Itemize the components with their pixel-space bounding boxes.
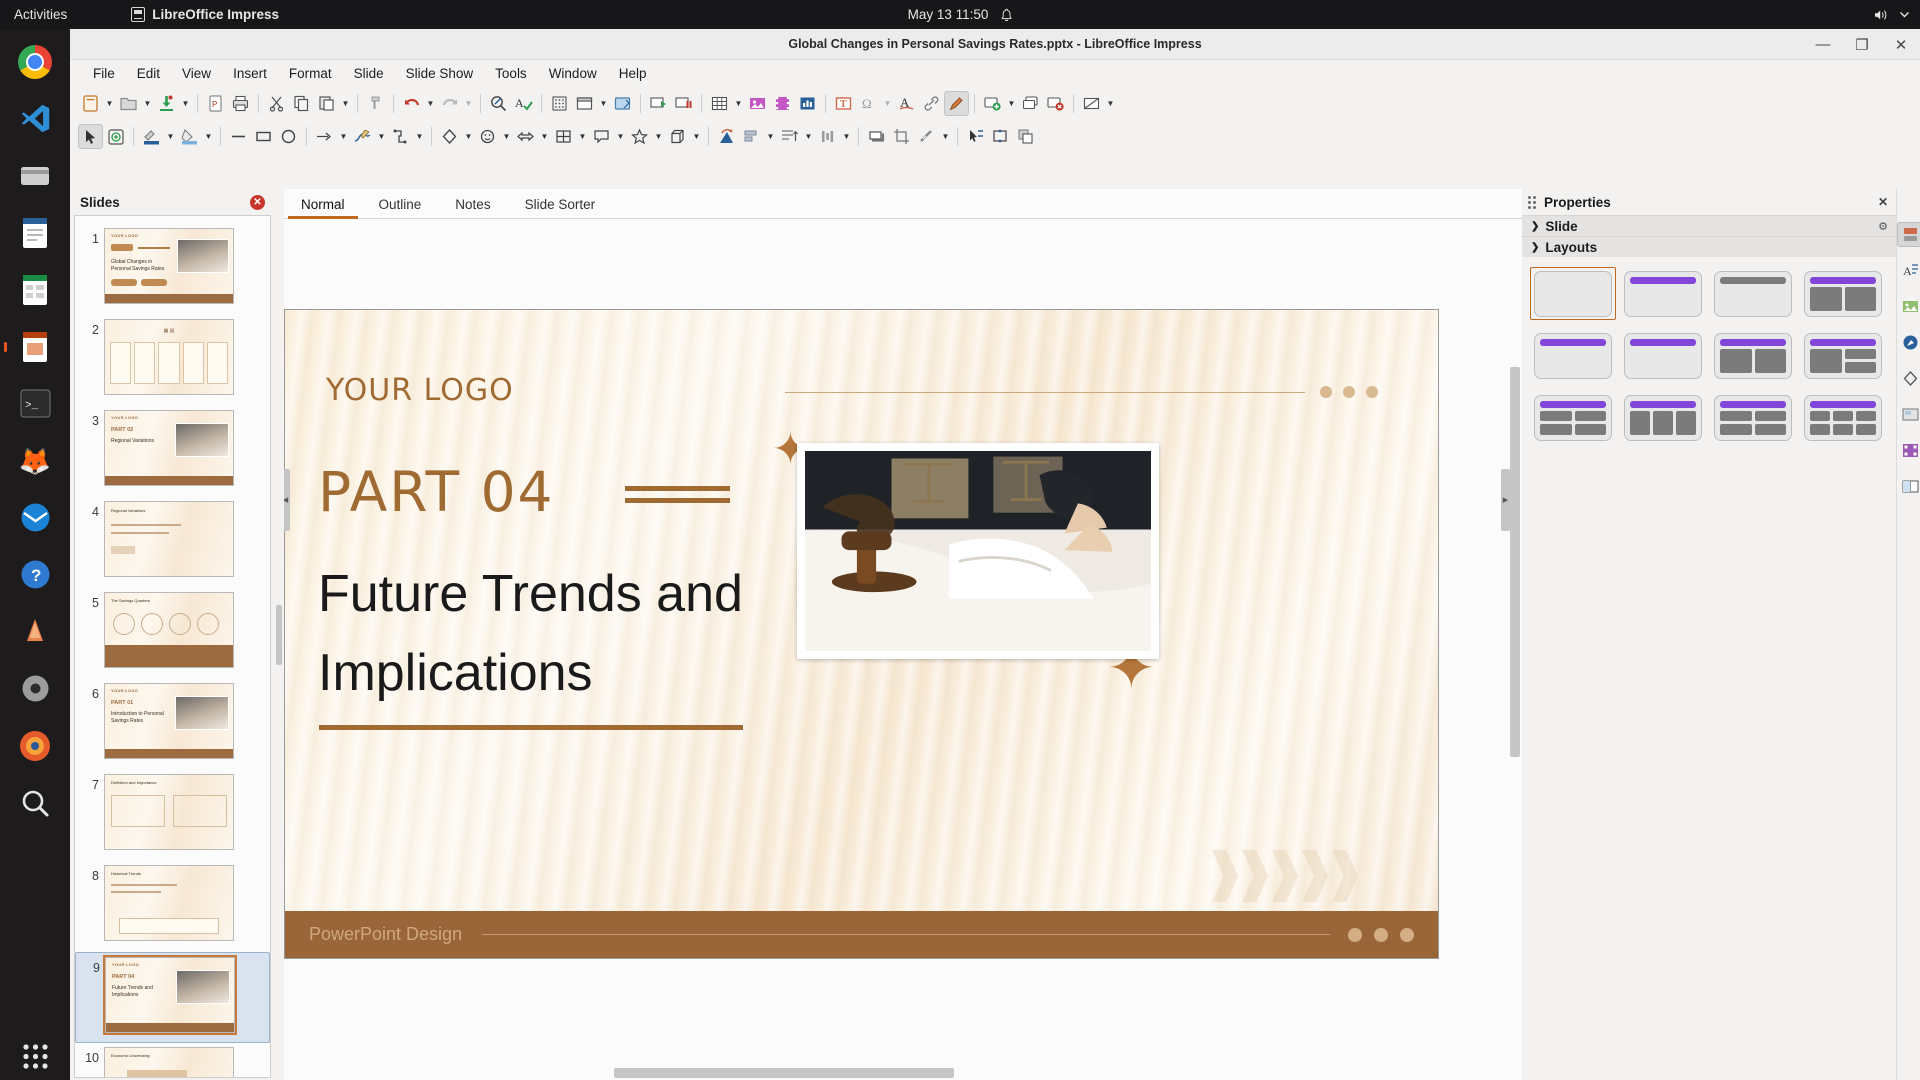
ubuntu-dock: >_ 🦊 ? [0,29,70,1080]
tab-normal[interactable]: Normal [284,192,362,218]
ellipse-button[interactable] [276,124,301,149]
slide-thumbnail-9[interactable]: 9 YOUR LOGO PART 04 Future Trends and Im… [75,952,270,1043]
slide-thumb-image: The Savings Quarters [104,592,234,668]
slide-thumbnail-4[interactable]: 4 Regional Variations [75,497,270,588]
slide-thumb-image: Historical Trends [104,865,234,941]
callout-shapes-dropdown[interactable]: ▼ [614,124,627,149]
layout-title-two-over-two[interactable] [1710,391,1796,444]
slide-thumbnail-6[interactable]: 6 YOUR LOGO PART 01 Introduction to Pers… [75,679,270,770]
points-button[interactable] [963,124,988,149]
active-app-indicator[interactable]: LibreOffice Impress [131,7,279,22]
show-applications-button[interactable] [12,1033,59,1080]
cut-button[interactable] [264,91,289,116]
edit-area: Normal Outline Notes Slide Sorter YOUR L… [284,189,1522,1080]
slide-thumb-image: YOUR LOGO PART 02 Regional Variations [104,410,234,486]
export-pdf-button[interactable]: P [203,91,228,116]
slide-footer-text: PowerPoint Design [309,924,462,945]
sidebar-tab-master-slides[interactable] [1897,402,1920,427]
dock-item-files[interactable] [12,152,59,199]
slide-heading-line-1: Future Trends and [318,565,743,623]
sidebar-grip-icon[interactable] [1528,196,1536,209]
thumb-title: Future Trends and Implications [112,985,167,999]
slide-number: 2 [75,319,99,337]
dock-item-google-chrome[interactable] [12,38,59,85]
arrange-button[interactable] [777,124,802,149]
footer-dots [1348,928,1414,942]
fill-color-button[interactable] [177,124,202,149]
zoom-tool-button[interactable] [103,124,128,149]
help-icon: ? [20,559,51,590]
3d-objects-button[interactable] [665,124,690,149]
layout-title-three-content[interactable] [1620,391,1706,444]
slide-footer: PowerPoint Design [285,911,1438,958]
paste-dropdown[interactable]: ▼ [339,91,352,116]
chevron-decoration [1212,850,1358,902]
insert-fontwork-button[interactable]: A [894,91,919,116]
new-slide-dropdown[interactable]: ▼ [1005,91,1018,116]
chevron-right-icon: ❯ [1531,221,1539,232]
thumb-title: Global Changes in Personal Savings Rates [111,259,173,273]
sidebar-section-layouts[interactable]: ❯ Layouts [1522,236,1896,257]
redo-button[interactable] [437,91,462,116]
sidebar-tab-shapes[interactable] [1897,366,1920,391]
slide-heading-line-2: Implications [318,644,593,702]
dock-item-help[interactable]: ? [12,551,59,598]
header-dots [1320,386,1378,398]
slide-thumbnail-3[interactable]: 3 YOUR LOGO PART 02 Regional Variations [75,406,270,497]
block-arrows-button[interactable] [513,124,538,149]
layout-title-content[interactable] [1620,267,1706,320]
part-rule-bottom [625,498,730,503]
open-file-button[interactable] [116,91,141,116]
3d-objects-dropdown[interactable]: ▼ [690,124,703,149]
sidebar-section-slide-label: Slide [1545,219,1577,234]
svg-text:A: A [1903,264,1912,278]
save-document-button[interactable] [154,91,179,116]
dock-item-visual-studio-code[interactable] [12,95,59,142]
slide-canvas[interactable]: YOUR LOGO PART 04 Future Trends and Impl… [284,219,1522,1080]
special-character-dropdown[interactable]: ▼ [881,91,894,116]
thumb-logo: YOUR LOGO [111,415,138,420]
slide-thumbnail-5[interactable]: 5 The Savings Quarters [75,588,270,679]
sidebar-tab-navigator[interactable] [1897,330,1920,355]
thumb-title: Introduction to Personal Savings Rates [111,711,166,725]
layout-gallery [1522,257,1896,444]
minimize-button[interactable]: — [1812,34,1834,56]
thumb-logo: YOUR LOGO [111,233,138,238]
system-indicators[interactable] [1873,8,1910,22]
layout-title-content-2[interactable] [1620,329,1706,382]
master-slide-button[interactable] [610,91,635,116]
basic-shapes-dropdown[interactable]: ▼ [462,124,475,149]
slide-number: 3 [75,410,99,428]
sidebar-tab-styles[interactable]: A [1897,258,1920,283]
grid-icon [22,1043,49,1070]
tab-notes[interactable]: Notes [438,192,507,218]
power-menu-icon [1899,9,1910,20]
files-icon [19,161,51,191]
show-draw-functions-button[interactable] [944,91,969,116]
dock-item-gimp[interactable]: 🦊 [12,437,59,484]
dock-item-text-editor[interactable] [12,209,59,256]
block-arrows-dropdown[interactable]: ▼ [538,124,551,149]
calc-icon [20,274,50,306]
insert-special-character-button[interactable]: Ω [856,91,881,116]
dock-item-impress[interactable] [12,323,59,370]
activities-button[interactable]: Activities [0,7,79,22]
align-objects-button[interactable] [739,124,764,149]
vertical-scroll-thumb[interactable] [1510,367,1520,757]
maximize-button[interactable]: ❐ [1851,34,1873,56]
insert-table-button[interactable] [707,91,732,116]
slide-number: 8 [75,865,99,883]
insert-line-button[interactable] [226,124,251,149]
current-slide[interactable]: YOUR LOGO PART 04 Future Trends and Impl… [284,309,1439,959]
save-document-dropdown[interactable]: ▼ [179,91,192,116]
slide-thumbnail-7[interactable]: 7 Definition and Importance [75,770,270,861]
sidebar-header: Properties ✕ [1522,189,1896,215]
menu-window[interactable]: Window [538,63,608,84]
gnome-top-bar: Activities LibreOffice Impress May 13 11… [0,0,1920,29]
impress-icon [131,7,145,22]
slide-layout-button[interactable] [1079,91,1104,116]
menu-slide[interactable]: Slide [343,63,395,84]
clone-formatting-button[interactable] [363,91,388,116]
menu-bar: File Edit View Insert Format Slide Slide… [70,60,1920,87]
filter-dropdown[interactable]: ▼ [939,124,952,149]
spelling-button[interactable]: A [511,91,536,116]
slide-thumb-image: ▦ ▤ [104,319,234,395]
firefox-icon [19,730,51,762]
part-rule-top [625,486,730,491]
view-tab-bar: Normal Outline Notes Slide Sorter [284,189,1522,219]
chrome-icon [18,45,52,79]
horizontal-scrollbar[interactable] [284,1068,1522,1078]
insert-text-box-button[interactable]: T [831,91,856,116]
writer-icon [20,217,50,249]
sidebar-tab-properties[interactable] [1897,222,1920,247]
window-titlebar: Global Changes in Personal Savings Rates… [70,29,1920,60]
bell-icon [1000,8,1012,22]
sidebar-title: Properties [1544,195,1870,210]
sidebar-tab-animation[interactable] [1897,438,1920,463]
thumb-part: PART 02 [111,427,133,433]
basic-shapes-button[interactable] [437,124,462,149]
thumb-logo: YOUR LOGO [111,688,138,693]
flowchart-shapes-button[interactable] [551,124,576,149]
slide-thumb-image: YOUR LOGO PART 04 Future Trends and Impl… [105,957,235,1033]
close-icon[interactable]: ✕ [250,195,265,210]
dock-item-spreadsheet[interactable] [12,266,59,313]
stars-and-banners-button[interactable] [627,124,652,149]
fill-color-dropdown[interactable]: ▼ [202,124,215,149]
thumb-part: PART 04 [112,974,134,980]
new-document-dropdown[interactable]: ▼ [103,91,116,116]
dock-item-software-updater[interactable] [12,608,59,655]
new-document-button[interactable] [78,91,103,116]
connectors-dropdown[interactable]: ▼ [413,124,426,149]
slide-thumb-image: Definition and Importance [104,774,234,850]
lines-and-arrows-button[interactable] [312,124,337,149]
slide-number: 5 [75,592,99,610]
line-color-dropdown[interactable]: ▼ [164,124,177,149]
left-pane-collapse-handle[interactable]: ◀ [284,469,290,531]
search-icon [19,787,51,819]
dock-item-firefox[interactable] [12,722,59,769]
slide-logo: YOUR LOGO [326,373,514,408]
dock-item-settings[interactable] [12,665,59,712]
terminal-icon: >_ [20,388,51,419]
chevron-down-icon: ❯ [1531,242,1539,253]
clock[interactable]: May 13 11:50 [908,7,1013,22]
slides-panel: Slides ✕ 1 YOUR LOGO Global Changes in P… [70,189,273,1080]
logo-rule [785,392,1305,393]
slide-part-label: PART 04 [318,460,555,524]
slide-number: 10 [75,1047,99,1065]
divider-grip[interactable] [276,605,282,665]
menu-file[interactable]: File [82,63,126,84]
line-color-button[interactable] [139,124,164,149]
find-and-replace-button[interactable] [486,91,511,116]
slide-thumb-image: YOUR LOGO PART 01 Introduction to Person… [104,683,234,759]
stars-and-banners-dropdown[interactable]: ▼ [652,124,665,149]
svg-text:T: T [840,99,847,110]
sidebar-tab-slide-transition[interactable] [1897,474,1920,499]
volume-icon [1873,8,1889,22]
menu-tools[interactable]: Tools [484,63,538,84]
window-title: Global Changes in Personal Savings Rates… [788,37,1201,51]
start-from-first-slide-button[interactable] [646,91,671,116]
undo-dropdown[interactable]: ▼ [424,91,437,116]
main-area: Slides ✕ 1 YOUR LOGO Global Changes in P… [70,189,1920,1080]
layout-title-content-split[interactable] [1800,329,1886,382]
insert-audio-video-button[interactable] [770,91,795,116]
lines-and-arrows-dropdown[interactable]: ▼ [337,124,350,149]
redo-dropdown[interactable]: ▼ [462,91,475,116]
layout-title-two-content-rows[interactable] [1710,329,1796,382]
slide-thumb-image: YOUR LOGO Global Changes in Personal Sav… [104,228,234,304]
close-button[interactable]: ✕ [1890,34,1912,56]
slide-number: 1 [75,228,99,246]
layout-title-two-content[interactable] [1800,267,1886,320]
impress-window: Global Changes in Personal Savings Rates… [70,29,1920,1080]
delete-slide-button[interactable] [1043,91,1068,116]
layout-centered-text[interactable] [1530,329,1616,382]
new-slide-button[interactable] [980,91,1005,116]
dock-item-terminal[interactable]: >_ [12,380,59,427]
slide-photo[interactable] [797,443,1159,659]
sidebar: Properties ✕ ❯ Slide ⚙ ❯ Layouts [1522,189,1920,1080]
slide-thumb-image: Regional Variations [104,501,234,577]
connectors-button[interactable] [388,124,413,149]
shadow-button[interactable] [864,124,889,149]
to-background-button[interactable] [1013,124,1038,149]
dock-item-thunderbird[interactable] [12,494,59,541]
svg-text:?: ? [31,566,41,585]
heading-underline [319,725,743,730]
standard-toolbar: ▼ ▼ ▼ P ▼ ▼ ▼ A ▼ ▼ [70,87,1920,120]
slides-panel-title: Slides [80,195,120,210]
horizontal-scroll-thumb[interactable] [614,1068,954,1078]
slide-thumbnail-list[interactable]: 1 YOUR LOGO Global Changes in Personal S… [74,215,271,1078]
align-objects-dropdown[interactable]: ▼ [764,124,777,149]
sidebar-close-icon[interactable]: ✕ [1878,195,1888,209]
menu-format[interactable]: Format [278,63,343,84]
filter-button[interactable] [914,124,939,149]
insert-table-dropdown[interactable]: ▼ [732,91,745,116]
arrange-dropdown[interactable]: ▼ [802,124,815,149]
layout-blank[interactable] [1530,267,1616,320]
menu-slide-show[interactable]: Slide Show [395,63,485,84]
display-views-button[interactable] [572,91,597,116]
svg-text:Ω: Ω [862,96,872,111]
gear-icon[interactable]: ⚙ [1878,220,1888,233]
thumb-logo: YOUR LOGO [112,962,139,967]
updater-icon [20,617,50,647]
dock-item-search[interactable] [12,779,59,826]
clock-label: May 13 11:50 [908,7,989,22]
display-views-dropdown[interactable]: ▼ [597,91,610,116]
thumb-title: The Savings Quarters [111,598,150,603]
drawing-toolbar: ▼ ▼ ▼ ▼ ▼ ▼ ▼ ▼ ▼ ▼ ▼ ▼ ▼ ▼ ▼ [70,120,1920,153]
distribute-selection-dropdown[interactable]: ▼ [840,124,853,149]
slide-number: 4 [75,501,99,519]
layout-six-content[interactable] [1800,391,1886,444]
slide-layout-dropdown[interactable]: ▼ [1104,91,1117,116]
sidebar-icon-rail: A [1896,189,1920,1080]
open-file-dropdown[interactable]: ▼ [141,91,154,116]
slide-thumbnail-1[interactable]: 1 YOUR LOGO Global Changes in Personal S… [75,224,270,315]
thumb-part: PART 01 [111,700,133,706]
slides-panel-header: Slides ✕ [70,189,273,215]
slide-number: 6 [75,683,99,701]
curves-and-polygons-button[interactable] [350,124,375,149]
print-button[interactable] [228,91,253,116]
slide-number: 9 [76,957,100,975]
panel-divider[interactable] [273,189,284,1080]
select-tool-button[interactable] [78,124,103,149]
distribute-selection-button[interactable] [815,124,840,149]
start-from-current-slide-button[interactable] [671,91,696,116]
tab-slide-sorter[interactable]: Slide Sorter [508,192,613,218]
callout-shapes-button[interactable] [589,124,614,149]
layout-four-content[interactable] [1530,391,1616,444]
crop-image-button[interactable] [889,124,914,149]
active-app-label: LibreOffice Impress [152,7,279,22]
gimp-icon: 🦊 [19,448,51,474]
copy-button[interactable] [289,91,314,116]
svg-text:P: P [212,100,217,109]
undo-button[interactable] [399,91,424,116]
insert-chart-button[interactable] [795,91,820,116]
layout-title-only-gray[interactable] [1710,267,1796,320]
flowchart-shapes-dropdown[interactable]: ▼ [576,124,589,149]
thunderbird-icon [20,502,51,533]
rotate-button[interactable] [714,124,739,149]
sidebar-tab-gallery[interactable] [1897,294,1920,319]
thumb-title: Historical Trends [111,871,141,876]
vscode-icon [19,102,52,135]
paste-button[interactable] [314,91,339,116]
svg-text:>_: >_ [25,400,39,412]
thumb-title: Regional Variations [111,438,166,445]
tab-outline[interactable]: Outline [362,192,439,218]
thumb-title: Economic Uncertainty [111,1053,150,1058]
slide-number: 7 [75,774,99,792]
menu-insert[interactable]: Insert [222,63,278,84]
curves-and-polygons-dropdown[interactable]: ▼ [375,124,388,149]
slide-thumb-image: Economic Uncertainty [104,1047,234,1078]
glue-points-button[interactable] [988,124,1013,149]
sidebar-section-layouts-label: Layouts [1545,240,1597,255]
symbol-shapes-dropdown[interactable]: ▼ [500,124,513,149]
svg-text:A: A [515,96,524,110]
slide-thumbnail-2[interactable]: 2 ▦ ▤ [75,315,270,406]
menu-help[interactable]: Help [608,63,658,84]
thumb-title: Definition and Importance [111,780,157,785]
rectangle-button[interactable] [251,124,276,149]
footer-rule [482,934,1330,935]
duplicate-slide-button[interactable] [1018,91,1043,116]
right-pane-collapse-handle[interactable]: ▶ [1501,469,1510,531]
menu-view[interactable]: View [171,63,222,84]
vertical-scrollbar[interactable] [1510,219,1520,1080]
thumb-title: ▦ ▤ [105,328,233,334]
gear-icon [20,673,51,704]
insert-hyperlink-button[interactable] [919,91,944,116]
symbol-shapes-button[interactable] [475,124,500,149]
menu-edit[interactable]: Edit [126,63,171,84]
thumb-title: Regional Variations [111,508,145,513]
slide-thumbnail-10[interactable]: 10 Economic Uncertainty [75,1043,270,1078]
display-grid-button[interactable] [547,91,572,116]
impress-app-icon [20,331,50,363]
slide-thumbnail-8[interactable]: 8 Historical Trends [75,861,270,952]
sidebar-section-slide[interactable]: ❯ Slide ⚙ [1522,215,1896,236]
insert-image-button[interactable] [745,91,770,116]
